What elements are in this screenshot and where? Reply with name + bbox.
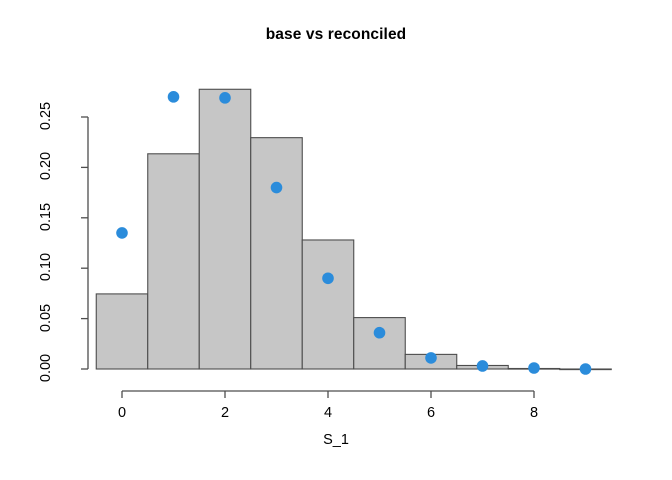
- reconciled-point: [580, 363, 592, 375]
- histogram-bar: [302, 240, 354, 369]
- y-tick-label: 0.00: [38, 344, 54, 392]
- histogram-bar: [199, 89, 251, 369]
- reconciled-point: [322, 272, 334, 284]
- histogram-bars-layer: [96, 89, 611, 369]
- histogram-bar: [148, 154, 200, 369]
- x-tick-label: 6: [411, 405, 451, 421]
- x-tick-label: 2: [205, 405, 245, 421]
- reconciled-point: [374, 327, 386, 339]
- histogram-bar: [96, 294, 148, 369]
- reconciled-point: [477, 360, 489, 372]
- y-tick-label: 0.10: [38, 243, 54, 291]
- histogram-bar: [354, 318, 406, 369]
- y-tick-label: 0.25: [38, 92, 54, 140]
- reconciled-point: [168, 91, 180, 103]
- x-tick-label: 0: [102, 405, 142, 421]
- reconciled-point: [528, 362, 540, 374]
- y-tick-label: 0.05: [38, 294, 54, 342]
- reconciled-point: [425, 352, 437, 364]
- x-axis-label: S_1: [0, 432, 672, 448]
- reconciled-point: [271, 182, 283, 194]
- reconciled-point: [219, 92, 231, 104]
- y-tick-label: 0.20: [38, 142, 54, 190]
- plot-area: 0.000.050.100.150.200.25 02468: [0, 0, 672, 480]
- reconciled-point: [116, 227, 128, 239]
- x-tick-label: 8: [514, 405, 554, 421]
- histogram-bar: [251, 138, 303, 369]
- chart-figure: base vs reconciled 0.000.050.100.150.200…: [0, 0, 672, 480]
- y-tick-label: 0.15: [38, 193, 54, 241]
- x-tick-label: 4: [308, 405, 348, 421]
